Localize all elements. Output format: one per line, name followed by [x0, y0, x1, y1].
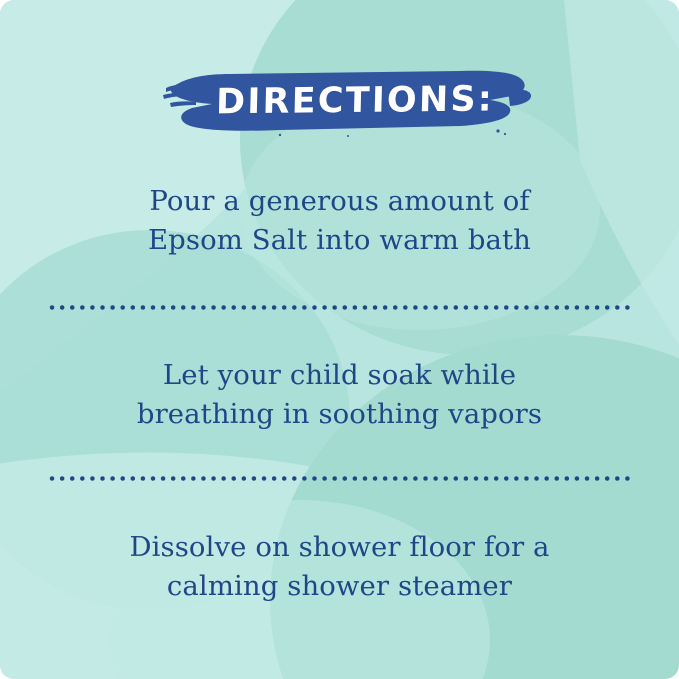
direction-step-3: Dissolve on shower floor for a calming s… [0, 528, 679, 606]
dotted-divider-1 [47, 305, 632, 310]
step-3-line-1: Dissolve on shower floor for a [0, 528, 679, 567]
direction-step-2: Let your child soak while breathing in s… [0, 356, 679, 434]
dotted-divider-2 [47, 476, 632, 481]
step-1-line-1: Pour a generous amount of [0, 182, 679, 221]
page-title: DIRECTIONS: [159, 60, 533, 142]
step-2-line-1: Let your child soak while [0, 356, 679, 395]
step-3-line-2: calming shower steamer [0, 567, 679, 606]
directions-banner: DIRECTIONS: [160, 62, 532, 140]
step-2-line-2: breathing in soothing vapors [0, 395, 679, 434]
direction-step-1: Pour a generous amount of Epsom Salt int… [0, 182, 679, 260]
card-content: DIRECTIONS: Pour a generous amount of Ep… [0, 0, 679, 679]
step-1-line-2: Epsom Salt into warm bath [0, 221, 679, 260]
directions-card: DIRECTIONS: Pour a generous amount of Ep… [0, 0, 679, 679]
